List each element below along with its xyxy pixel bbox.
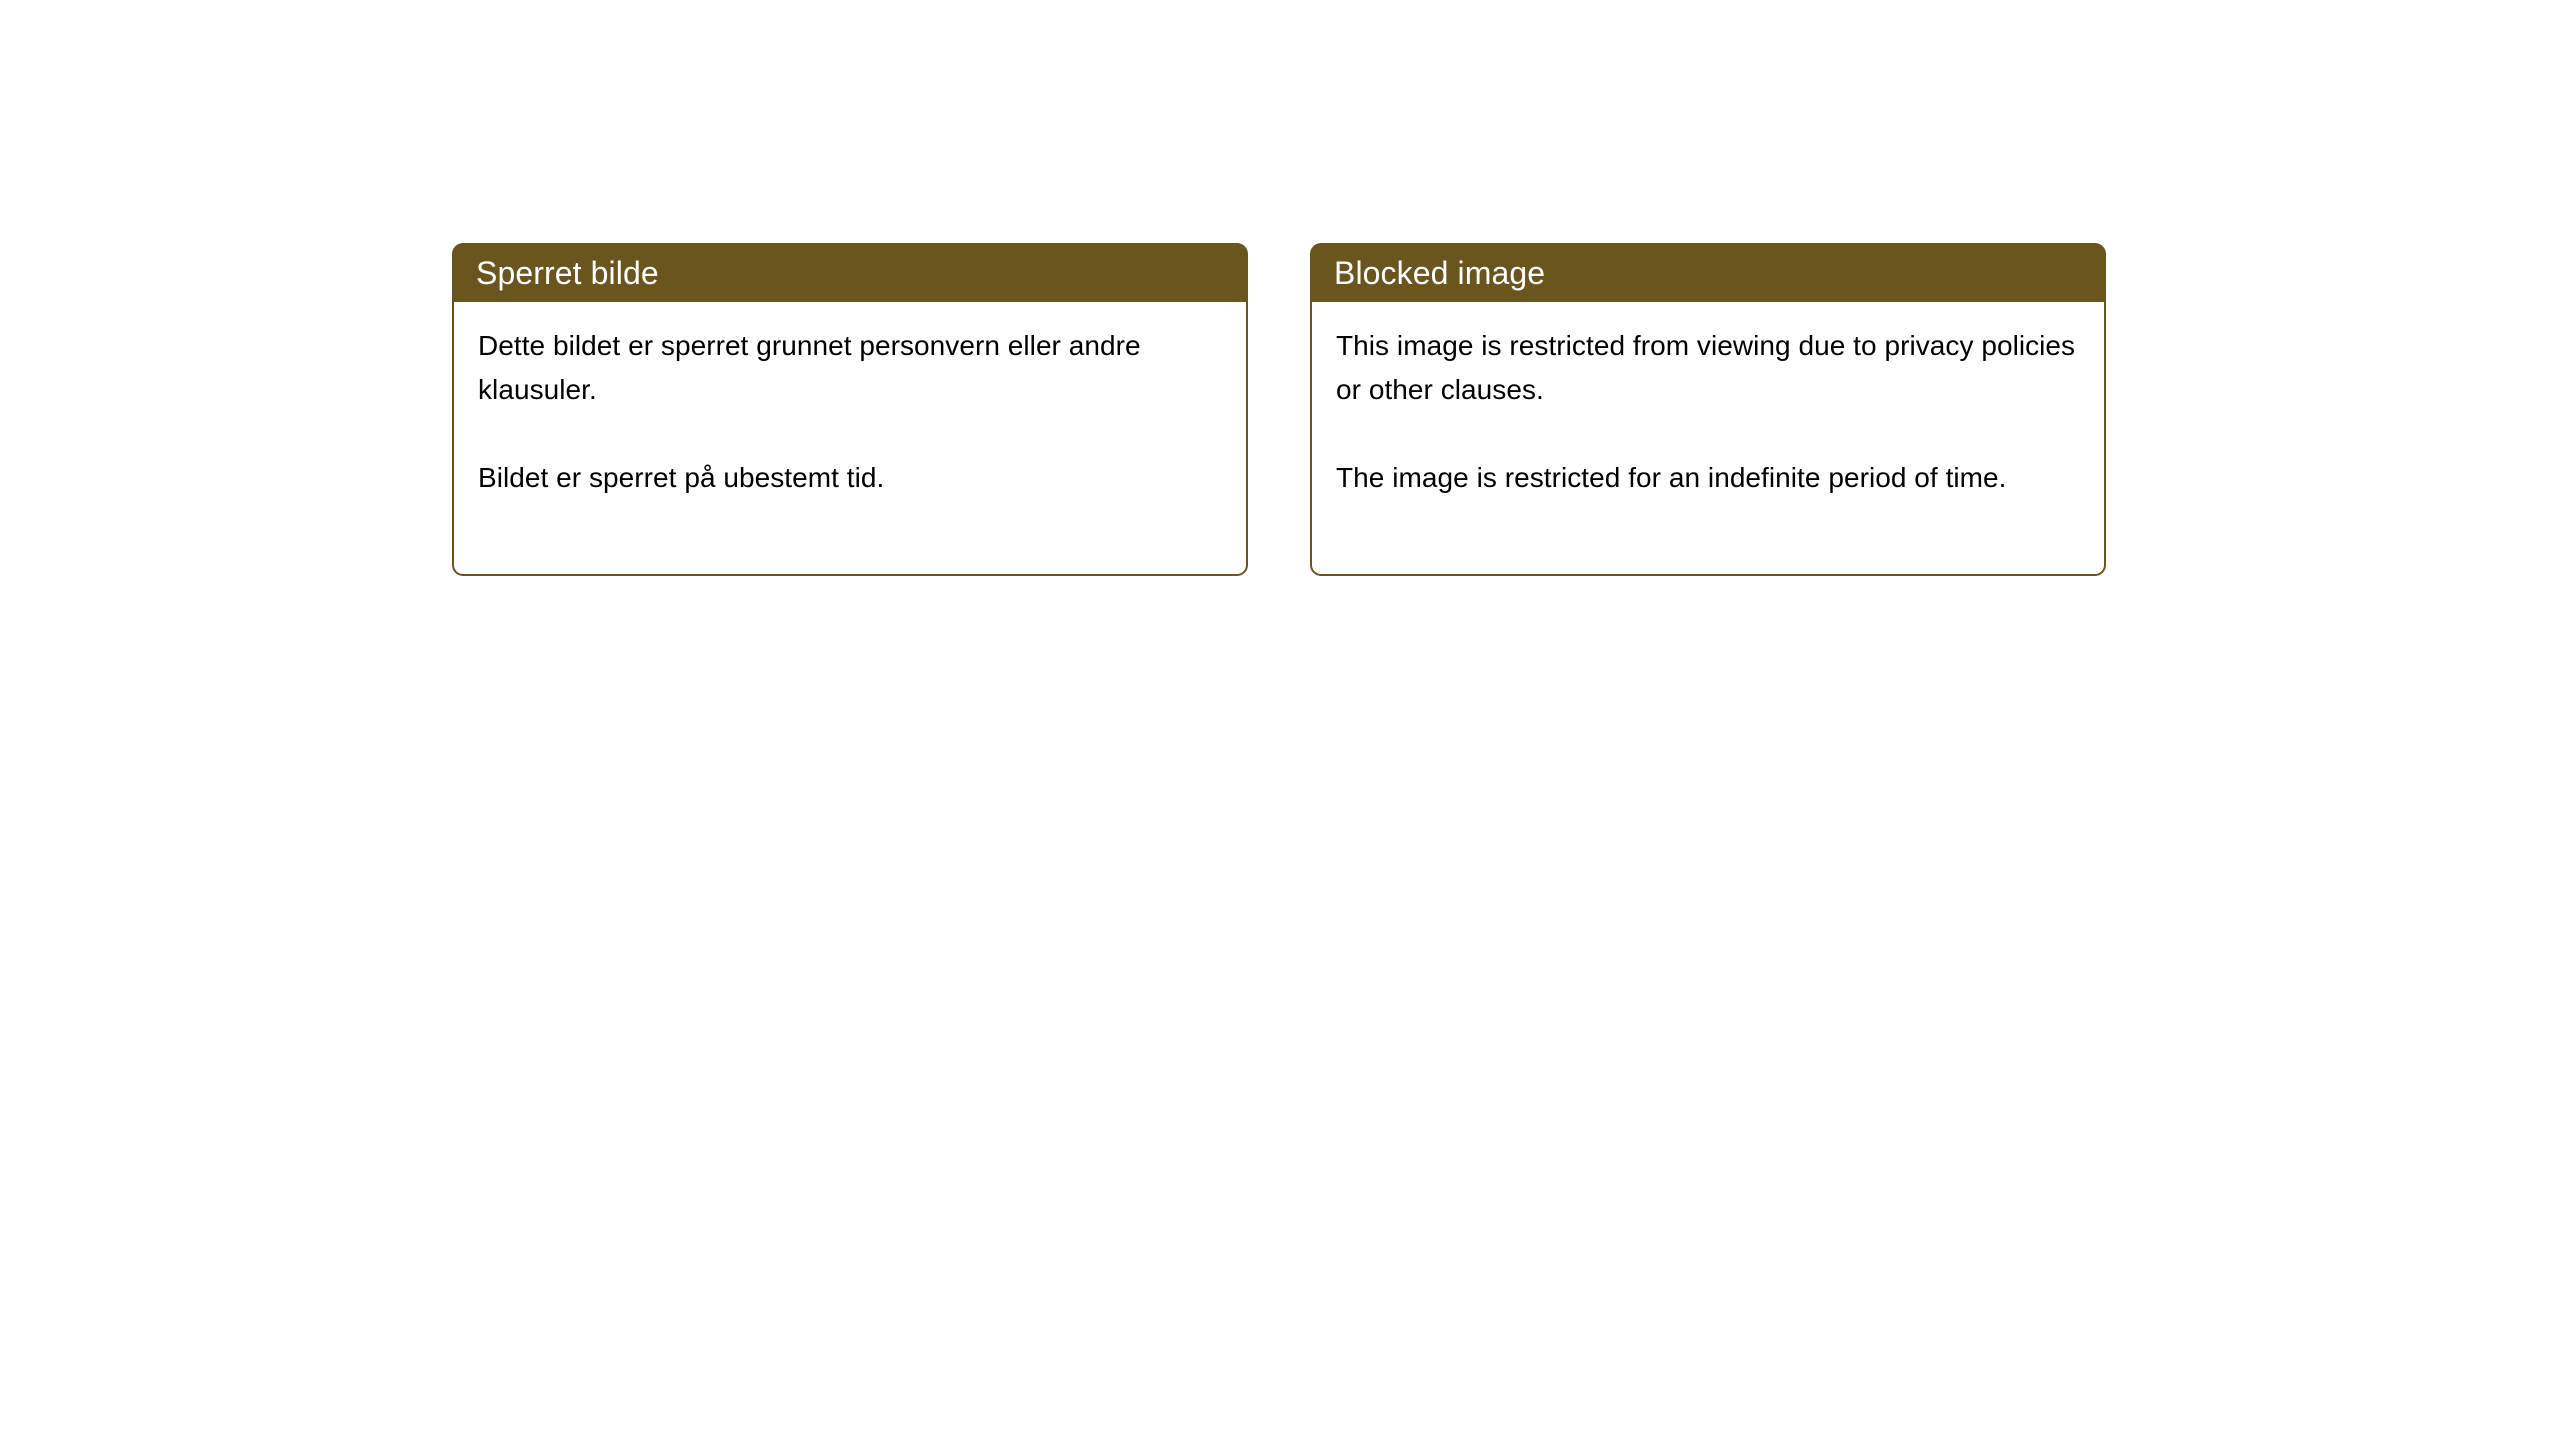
card-body-norwegian: Dette bildet er sperret grunnet personve… — [452, 302, 1248, 576]
card-header-english: Blocked image — [1310, 243, 2106, 302]
blocked-image-notice-group: Sperret bilde Dette bildet er sperret gr… — [452, 243, 2112, 576]
card-header-norwegian: Sperret bilde — [452, 243, 1248, 302]
card-paragraph-norwegian-2: Bildet er sperret på ubestemt tid. — [478, 456, 1222, 500]
card-title-norwegian: Sperret bilde — [476, 255, 659, 291]
blocked-image-card-norwegian: Sperret bilde Dette bildet er sperret gr… — [452, 243, 1248, 576]
card-body-english: This image is restricted from viewing du… — [1310, 302, 2106, 576]
card-paragraph-english-1: This image is restricted from viewing du… — [1336, 324, 2080, 412]
card-title-english: Blocked image — [1334, 255, 1545, 291]
card-paragraph-norwegian-1: Dette bildet er sperret grunnet personve… — [478, 324, 1222, 412]
blocked-image-card-english: Blocked image This image is restricted f… — [1310, 243, 2106, 576]
card-paragraph-english-2: The image is restricted for an indefinit… — [1336, 456, 2080, 500]
